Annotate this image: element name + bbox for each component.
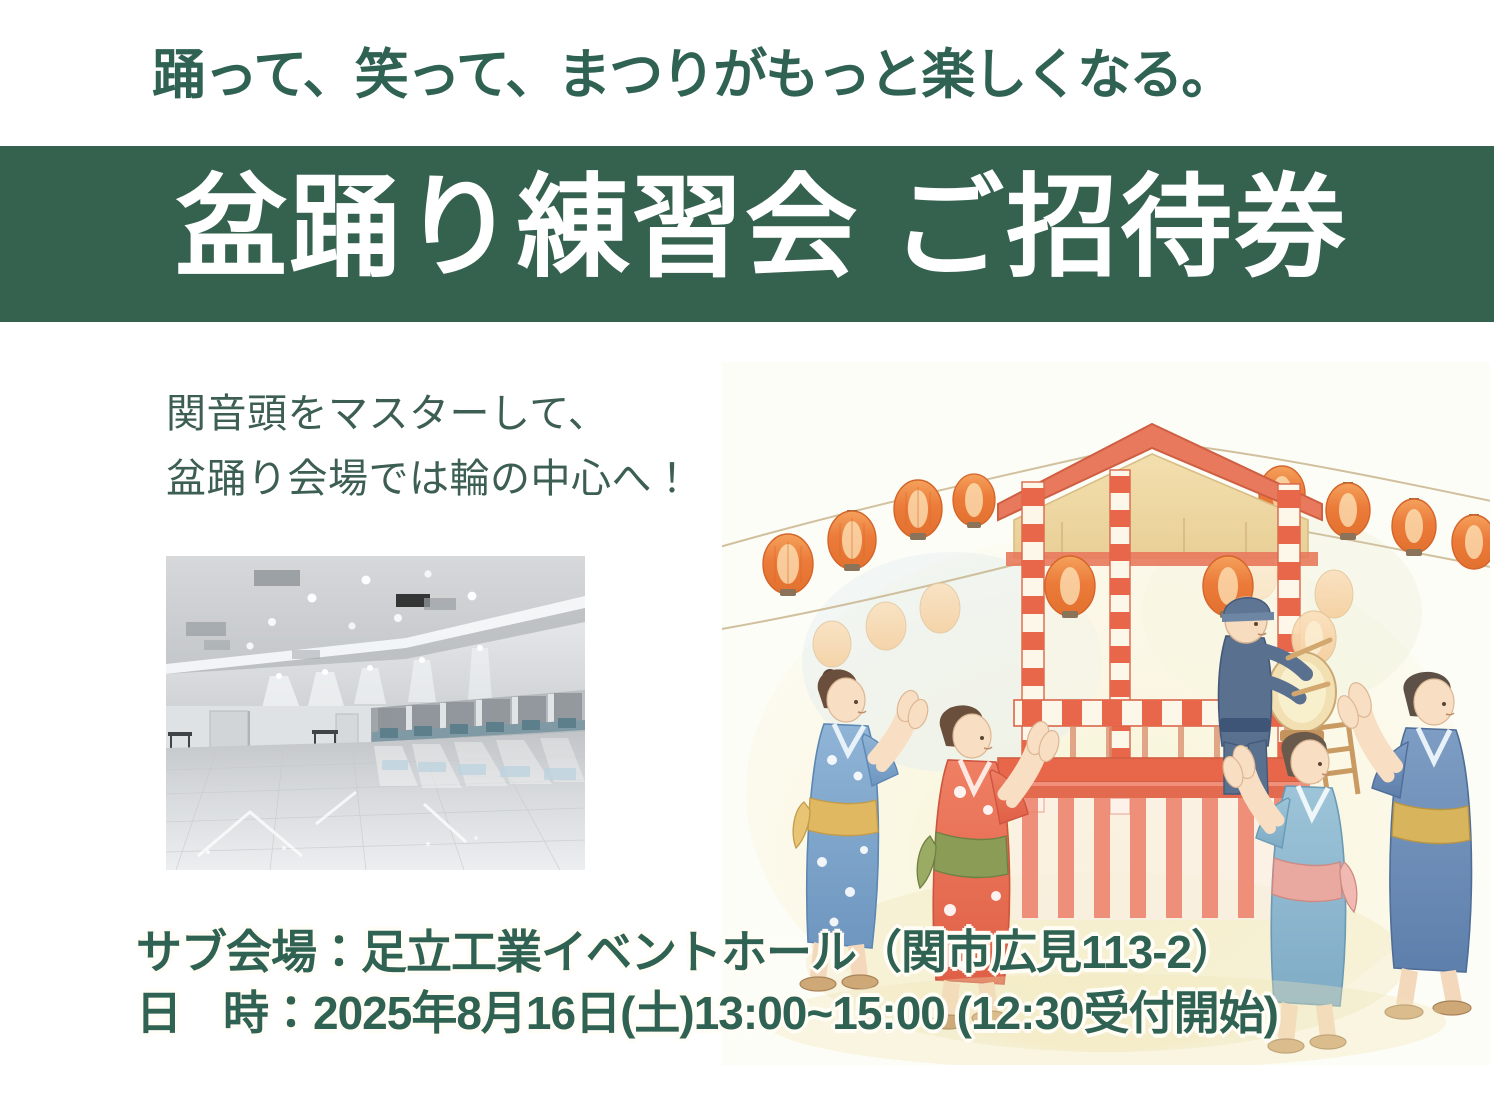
- subtitle-line-2: 盆踊り会場では輪の中心へ！: [166, 447, 693, 512]
- datetime-line: 日時：2025年8月16日(土)13:00~15:00 (12:30受付開始): [136, 983, 1278, 1044]
- datetime-value: 時：2025年8月16日(土)13:00~15:00 (12:30受付開始): [223, 987, 1278, 1039]
- venue-photo: [166, 556, 585, 870]
- tagline: 踊って、笑って、まつりがもっと楽しくなる。: [152, 46, 1233, 105]
- venue-photo-image: [166, 556, 585, 870]
- poster-root: 踊って、笑って、まつりがもっと楽しくなる。 盆踊り練習会 ご招待券 関音頭をマス…: [0, 0, 1494, 1096]
- venue-line: サブ会場：足立工業イベントホール（関市広見113-2）: [136, 922, 1278, 983]
- datetime-label-char: 日: [136, 987, 181, 1039]
- subtitle-block: 関音頭をマスターして、 盆踊り会場では輪の中心へ！: [166, 382, 693, 512]
- title-banner: 盆踊り練習会 ご招待券: [0, 146, 1494, 322]
- subtitle-line-1: 関音頭をマスターして、: [166, 382, 693, 447]
- banner-title-text: 盆踊り練習会 ご招待券: [175, 162, 1348, 294]
- event-info-block: サブ会場：足立工業イベントホール（関市広見113-2） 日時：2025年8月16…: [136, 922, 1278, 1044]
